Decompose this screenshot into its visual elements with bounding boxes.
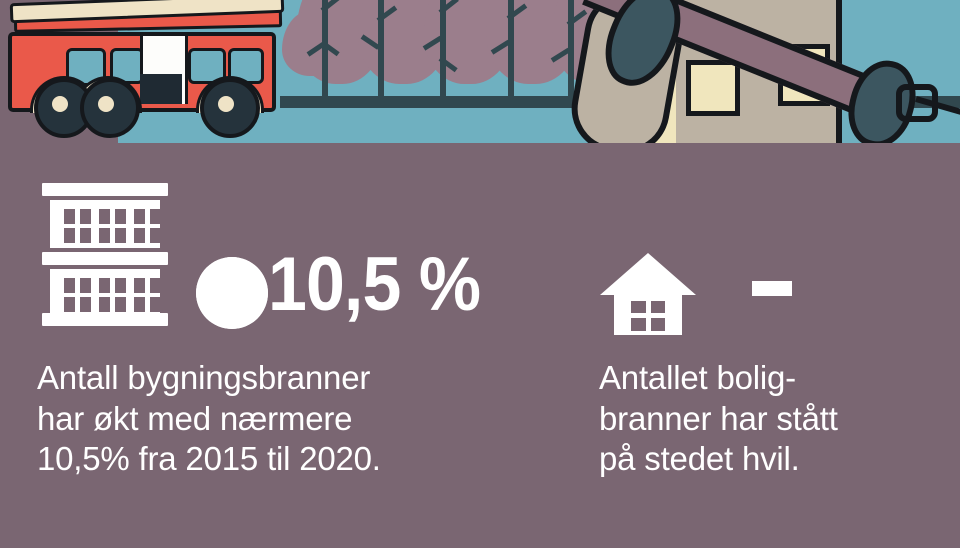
truck-wheel bbox=[200, 78, 260, 138]
stat-value-building-fires: 10,5 % bbox=[268, 247, 480, 323]
house-glyph bbox=[598, 251, 698, 337]
firefighter-icon bbox=[600, 0, 960, 143]
stat-caption-building-fires: Antall bygningsbranner har økt med nærme… bbox=[37, 358, 537, 480]
arrow-up-glyph bbox=[196, 257, 268, 329]
arrow-up-circle-icon bbox=[196, 257, 268, 329]
building-roof-bar bbox=[42, 183, 168, 196]
flat-trend-dash-icon bbox=[752, 281, 792, 296]
stats-section: 10,5 % Antall bygningsbranner har økt me… bbox=[0, 143, 960, 548]
truck-center-panel-dark bbox=[140, 74, 182, 104]
truck-wheel bbox=[80, 78, 140, 138]
house-icon bbox=[598, 251, 698, 337]
infographic-page: 10,5 % Antall bygningsbranner har økt me… bbox=[0, 0, 960, 548]
apartment-building-icon bbox=[38, 183, 172, 326]
coat-pocket bbox=[686, 60, 740, 116]
stat-caption-home-fires: Antallet bolig- branner har stått på ste… bbox=[599, 358, 949, 480]
building-mid-bar bbox=[42, 252, 168, 265]
fire-scene-illustration bbox=[0, 0, 960, 143]
tree-trunk bbox=[440, 0, 446, 100]
fire-truck-icon bbox=[0, 2, 294, 132]
building-base-bar bbox=[42, 313, 168, 326]
